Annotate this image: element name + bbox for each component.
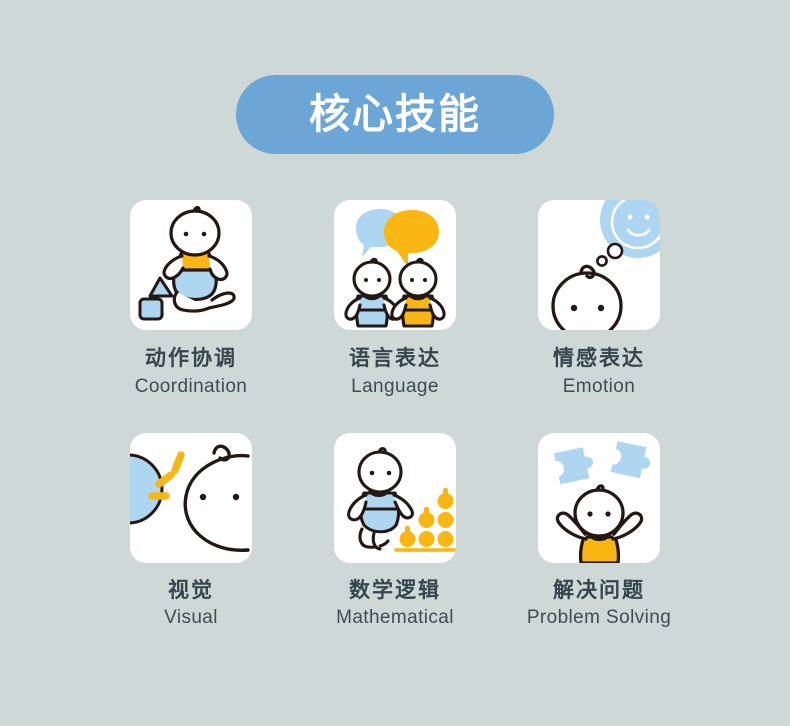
skill-labels: 视觉 Visual (164, 579, 218, 629)
skill-label-cn: 语言表达 (349, 347, 441, 371)
skill-label-en: Visual (164, 607, 218, 628)
skill-label-cn: 解决问题 (527, 579, 671, 603)
skill-card-mathematical[interactable]: 数学逻辑 Mathematical (326, 433, 464, 629)
icon-card (538, 200, 660, 330)
page-title: 核心技能 (309, 94, 481, 135)
skill-label-en: Language (349, 376, 441, 397)
skill-card-problem-solving[interactable]: 解决问题 Problem Solving (530, 433, 668, 629)
skill-label-cn: 动作协调 (135, 347, 248, 371)
title-pill: 核心技能 (236, 75, 554, 154)
icon-card (334, 433, 456, 563)
icon-card (130, 433, 252, 563)
baby-with-puzzle-pieces-icon (538, 433, 660, 563)
skills-row-2: 视觉 Visual (0, 433, 790, 629)
two-babies-speech-bubbles-icon (334, 200, 456, 330)
baby-with-blocks-icon (130, 200, 252, 330)
skills-infographic: 核心技能 (0, 0, 790, 726)
skills-grid: 动作协调 Coordination (0, 200, 790, 629)
skill-labels: 情感表达 Emotion (553, 347, 645, 397)
skill-labels: 解决问题 Problem Solving (527, 579, 671, 629)
icon-card (538, 433, 660, 563)
skill-card-language[interactable]: 语言表达 Language (326, 200, 464, 397)
baby-thought-smiley-icon (538, 200, 660, 330)
skill-label-cn: 情感表达 (553, 347, 645, 371)
icon-card (334, 200, 456, 330)
skill-card-coordination[interactable]: 动作协调 Coordination (122, 200, 260, 397)
skill-label-en: Emotion (553, 376, 645, 397)
skill-labels: 语言表达 Language (349, 347, 441, 397)
page-header: 核心技能 (0, 75, 790, 154)
icon-card (130, 200, 252, 330)
skill-labels: 动作协调 Coordination (135, 347, 248, 397)
skill-label-en: Coordination (135, 376, 248, 397)
skill-card-emotion[interactable]: 情感表达 Emotion (530, 200, 668, 397)
skill-labels: 数学逻辑 Mathematical (336, 579, 454, 629)
skills-row-1: 动作协调 Coordination (0, 200, 790, 397)
skill-label-cn: 数学逻辑 (336, 579, 454, 603)
baby-with-abacus-beads-icon (334, 433, 456, 563)
skill-label-cn: 视觉 (164, 579, 218, 603)
skill-card-visual[interactable]: 视觉 Visual (122, 433, 260, 629)
baby-face-light-rays-icon (130, 433, 252, 563)
skill-label-en: Problem Solving (527, 607, 671, 628)
skill-label-en: Mathematical (336, 607, 454, 628)
